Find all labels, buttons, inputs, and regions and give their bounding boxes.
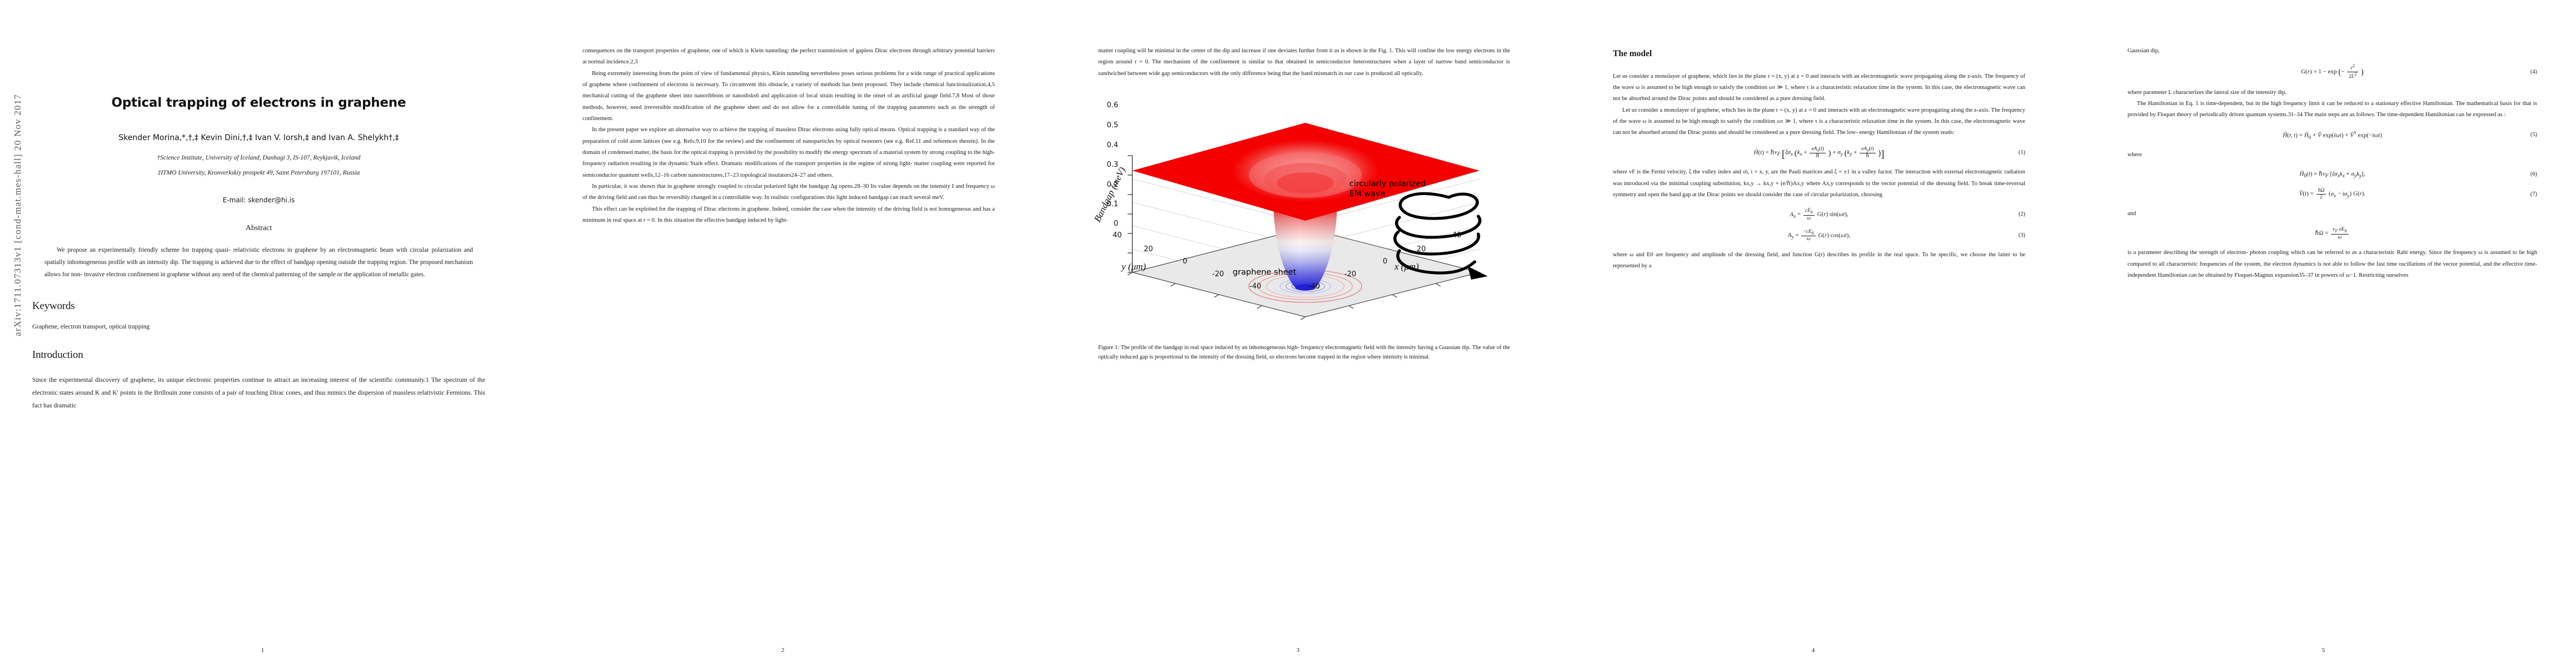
equation-7: V̂(t) = ħΩ2 (σx − iσy) G(r). (7) bbox=[2127, 188, 2537, 201]
figure-1: 0.6 0.5 0.4 0.3 0.2 0.1 0 Bandgap (meV) … bbox=[1098, 88, 1510, 362]
figure-1-plot: 0.6 0.5 0.4 0.3 0.2 0.1 0 Bandgap (meV) … bbox=[1098, 88, 1510, 341]
page-3-column: matter coupling will be minimal in the c… bbox=[1098, 0, 1510, 362]
paragraph: where vF is the Fermi velocity, ξ the va… bbox=[1613, 167, 2025, 201]
page-5-body: Gaussian dip, G(r) = 1 − exp (− r22L2 ) … bbox=[2127, 0, 2537, 667]
page-5-column: Gaussian dip, G(r) = 1 − exp (− r22L2 ) … bbox=[2127, 0, 2537, 281]
equation-3: Ay = −cE0ω G(r) cos(ωt), (3) bbox=[1613, 229, 2025, 242]
and-line: and bbox=[2127, 208, 2537, 220]
affiliation-2: ‡ITMO University, Kronverkskiy prospekt … bbox=[32, 170, 485, 177]
where-line: where bbox=[2127, 150, 2537, 161]
paragraph: The Hamiltonian in Eq. 1 is time-depende… bbox=[2127, 98, 2537, 121]
x-tick-label: -20 bbox=[1344, 268, 1356, 282]
arxiv-stamp: arXiv:1711.07313v1 [cond-mat.mes-hall] 2… bbox=[12, 153, 23, 336]
equation-6: Ĥ0(t) = ℏvF [ξσxkx + σyky], (6) bbox=[2127, 168, 2537, 181]
page-5: Gaussian dip, G(r) = 1 − exp (− r22L2 ) … bbox=[2071, 0, 2576, 667]
paragraph: where parameter L characterizes the late… bbox=[2127, 87, 2537, 98]
paragraph: Let us consider a monolayer of graphene,… bbox=[1613, 105, 2025, 139]
paragraph: consequences on the transport properties… bbox=[582, 46, 995, 68]
y-tick-label: 0 bbox=[1183, 255, 1187, 269]
page-number: 3 bbox=[1040, 647, 1556, 654]
abstract-text: We propose an experimentally friendly sc… bbox=[32, 244, 485, 281]
abstract-heading: Abstract bbox=[32, 224, 485, 233]
page-4-column: The model Let us consider a monolayer of… bbox=[1613, 0, 2025, 272]
paragraph: Gaussian dip, bbox=[2127, 46, 2537, 57]
page-1: arXiv:1711.07313v1 [cond-mat.mes-hall] 2… bbox=[0, 0, 525, 667]
contact-email[interactable]: E-mail: skender@hi.is bbox=[32, 196, 485, 204]
equation-5: Ĥ(r, t) = Ĥ0 + V̂ exp(iωt) + V̂† exp(−iω… bbox=[2127, 128, 2537, 142]
paragraph: This effect can be exploited for the tra… bbox=[582, 204, 995, 227]
page-1-body: Optical trapping of electrons in graphen… bbox=[32, 0, 485, 667]
page-4-body: The model Let us consider a monolayer of… bbox=[1613, 0, 2025, 667]
author-list: Skender Morina,*,†,‡ Kevin Dini,†,‡ Ivan… bbox=[32, 133, 485, 142]
y-tick-label: 40 bbox=[1113, 229, 1122, 243]
y-tick-label: -20 bbox=[1212, 268, 1224, 282]
x-axis-label: x (μm) bbox=[1394, 258, 1419, 276]
page-number: 4 bbox=[1556, 647, 2071, 654]
paragraph: Let us consider a monolayer of graphene,… bbox=[1613, 71, 2025, 105]
equation-number: (2) bbox=[2019, 209, 2025, 220]
page-2-body: consequences on the transport properties… bbox=[582, 0, 995, 667]
figure-1-caption: Figure 1: The profile of the bandgap in … bbox=[1098, 344, 1510, 362]
y-tick-label: -40 bbox=[1249, 280, 1261, 294]
z-tick-label: 0.5 bbox=[1097, 119, 1118, 133]
z-tick-label: 0.6 bbox=[1097, 99, 1118, 113]
page-title: Optical trapping of electrons in graphen… bbox=[32, 0, 485, 110]
y-axis-label: y (μm) bbox=[1122, 258, 1146, 276]
affiliation-1: †Science Institute, University of Icelan… bbox=[32, 155, 485, 162]
paragraph: where ω and E0 are frequency and amplitu… bbox=[1613, 250, 2025, 272]
paragraph: In particular, it was shown that in grap… bbox=[582, 181, 995, 204]
page-number: 1 bbox=[0, 647, 525, 654]
author-list-text: Skender Morina,*,†,‡ Kevin Dini,†,‡ Ivan… bbox=[118, 133, 398, 142]
equation-2: Ax = cE0ω G(r) sin(ωt), (2) bbox=[1613, 208, 2025, 221]
paragraph: Being extremely interesting from the poi… bbox=[582, 68, 995, 125]
x-tick-label: 40 bbox=[1452, 229, 1462, 243]
equation-number: (7) bbox=[2530, 189, 2537, 200]
introduction-paragraph: Since the experimental discovery of grap… bbox=[32, 374, 485, 412]
page-3-body: matter coupling will be minimal in the c… bbox=[1098, 0, 1510, 667]
equation-1: Ĥ(t) = ℏvF [ξσx (kx + eAx(t)ℏ ) + σy (ky… bbox=[1613, 146, 2025, 160]
section-heading-model: The model bbox=[1613, 46, 2025, 62]
page-2: consequences on the transport properties… bbox=[525, 0, 1040, 667]
equation-number: (1) bbox=[2019, 147, 2025, 158]
x-tick-label: 20 bbox=[1417, 243, 1426, 257]
x-tick-label: -40 bbox=[1308, 280, 1320, 294]
equation-number: (5) bbox=[2530, 130, 2537, 141]
annotation-em-wave: circularly polarized EM wave bbox=[1349, 180, 1426, 199]
paper-viewer: arXiv:1711.07313v1 [cond-mat.mes-hall] 2… bbox=[0, 0, 2576, 667]
page-4: The model Let us consider a monolayer of… bbox=[1556, 0, 2071, 667]
equation-number: (3) bbox=[2019, 230, 2025, 241]
z-tick-label: 0.4 bbox=[1097, 139, 1118, 153]
figure-caption-text: The profile of the bandgap in real space… bbox=[1098, 345, 1510, 360]
equation-number: (4) bbox=[2530, 67, 2537, 78]
equation-4: G(r) = 1 − exp (− r22L2 ) (4) bbox=[2127, 64, 2537, 79]
page-3: matter coupling will be minimal in the c… bbox=[1040, 0, 1556, 667]
paragraph: matter coupling will be minimal in the c… bbox=[1098, 46, 1510, 79]
introduction-heading: Introduction bbox=[32, 349, 485, 361]
page-number: 5 bbox=[2071, 647, 2576, 654]
keywords-heading: Keywords bbox=[32, 300, 485, 312]
paragraph: is a parameter describing the strength o… bbox=[2127, 247, 2537, 281]
annotation-graphene-sheet: graphene sheet bbox=[1233, 265, 1296, 281]
page-2-column: consequences on the transport properties… bbox=[582, 0, 995, 226]
y-tick-label: 20 bbox=[1144, 243, 1153, 257]
page-number: 2 bbox=[525, 647, 1040, 654]
paragraph: In the present paper we explore an alter… bbox=[582, 125, 995, 181]
keywords-text: Graphene, electron transport, optical tr… bbox=[32, 323, 485, 330]
figure-caption-label: Figure 1: bbox=[1098, 345, 1119, 351]
x-tick-label: 0 bbox=[1383, 255, 1387, 269]
bandgap-surface-plot bbox=[1098, 88, 1510, 341]
equation-8: ℏΩ = vF eE0ω bbox=[2127, 227, 2537, 240]
helix-arrow-icon bbox=[1468, 266, 1488, 280]
equation-number: (6) bbox=[2530, 169, 2537, 180]
